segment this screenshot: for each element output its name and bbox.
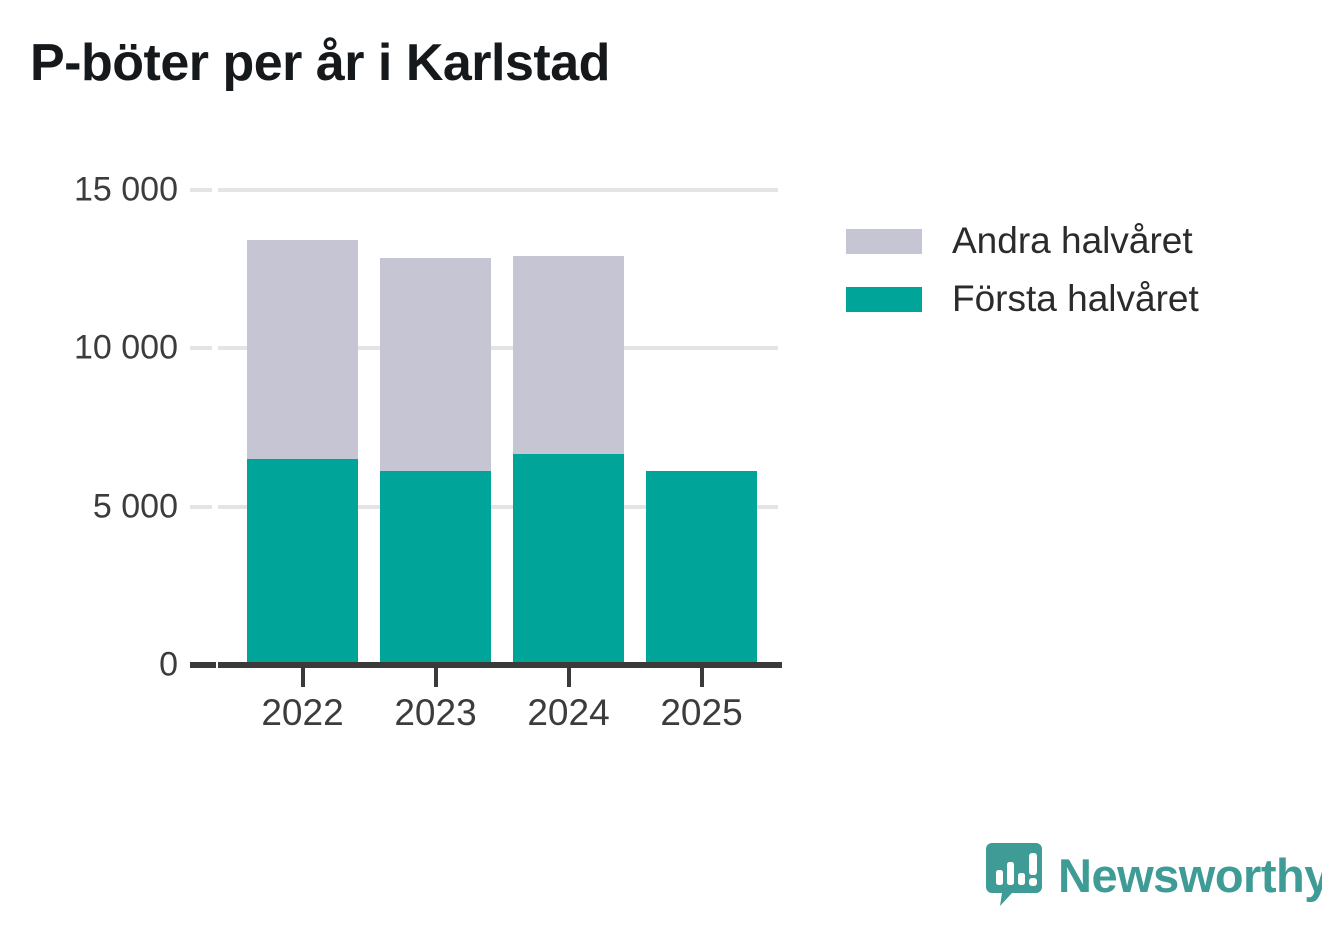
newsworthy-wordmark: Newsworthy <box>1058 848 1322 903</box>
legend-item[interactable]: Första halvåret <box>846 270 1199 328</box>
chart-legend: Andra halvåretFörsta halvåret <box>846 212 1199 328</box>
plot-area <box>218 190 782 665</box>
bar-segment-first-half[interactable] <box>380 471 491 665</box>
x-tick-mark <box>567 668 571 687</box>
y-tick-label: 5 000 <box>0 487 178 526</box>
bar-segment-first-half[interactable] <box>247 459 358 665</box>
y-tick-mark <box>190 505 212 509</box>
legend-swatch-second-half <box>846 229 922 254</box>
bar-segment-second-half[interactable] <box>380 258 491 471</box>
x-tick-mark <box>700 668 704 687</box>
legend-swatch-first-half <box>846 287 922 312</box>
y-tick-mark <box>190 188 212 192</box>
bar-group[interactable] <box>380 190 491 665</box>
newsworthy-logo: Newsworthy <box>986 843 1322 907</box>
legend-label: Andra halvåret <box>952 220 1193 262</box>
page-title: P-böter per år i Karlstad <box>30 33 610 93</box>
x-axis-baseline <box>218 662 782 668</box>
y-tick-mark <box>190 662 216 668</box>
legend-label: Första halvåret <box>952 278 1199 320</box>
x-tick-mark <box>434 668 438 687</box>
y-tick-label: 0 <box>0 646 178 685</box>
bar-group[interactable] <box>513 190 624 665</box>
y-tick-mark <box>190 346 212 350</box>
x-tick-label: 2025 <box>622 692 782 734</box>
bar-group[interactable] <box>247 190 358 665</box>
legend-item[interactable]: Andra halvåret <box>846 212 1199 270</box>
bar-segment-second-half[interactable] <box>247 240 358 459</box>
x-tick-mark <box>301 668 305 687</box>
bar-segment-first-half[interactable] <box>646 471 757 665</box>
bar-segment-first-half[interactable] <box>513 454 624 665</box>
bar-group[interactable] <box>646 190 757 665</box>
bar-segment-second-half[interactable] <box>513 256 624 454</box>
chart-root: P-böter per år i Karlstad 05 00010 00015… <box>0 0 1322 939</box>
newsworthy-bar-chart-bubble-icon <box>986 843 1042 907</box>
y-tick-label: 15 000 <box>0 171 178 210</box>
y-tick-label: 10 000 <box>0 329 178 368</box>
